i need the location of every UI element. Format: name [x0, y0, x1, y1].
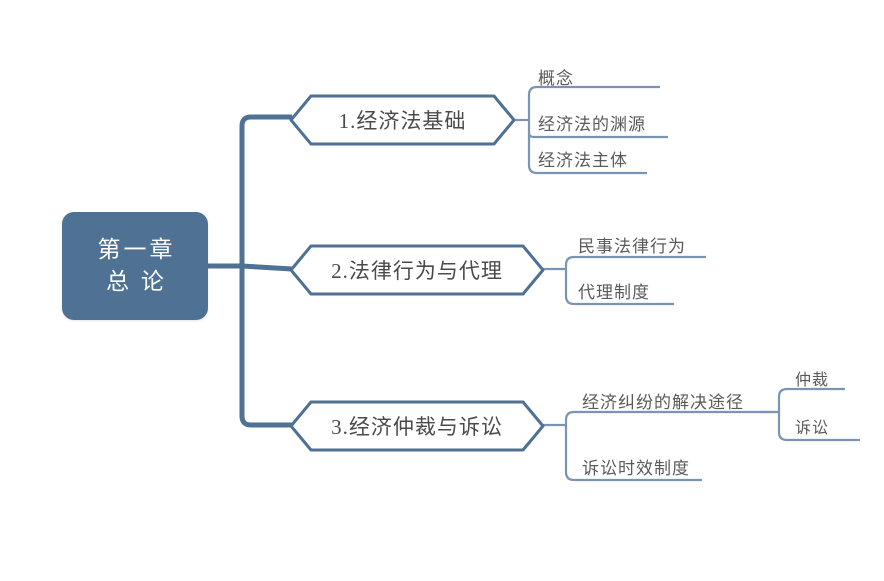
- leaf-node-limitation-of-action[interactable]: 诉讼时效制度: [582, 454, 690, 479]
- leaf-node-economic-law-subject[interactable]: 经济法主体: [538, 146, 628, 171]
- root-node[interactable]: 第一章 总 论: [62, 212, 208, 320]
- leaf-node-concept[interactable]: 概念: [538, 64, 574, 89]
- leaf-node-litigation[interactable]: 诉讼: [795, 414, 829, 438]
- branch-node-3[interactable]: 3.经济仲裁与诉讼: [290, 400, 544, 452]
- branch-node-2[interactable]: 2.法律行为与代理: [290, 244, 544, 296]
- trunk-connectors: [208, 117, 292, 425]
- branch-node-2-label: 2.法律行为与代理: [331, 255, 503, 285]
- leaf-node-arbitration[interactable]: 仲裁: [795, 366, 829, 390]
- branch-node-3-label: 3.经济仲裁与诉讼: [331, 411, 503, 441]
- leaf-node-civil-juristic-act[interactable]: 民事法律行为: [578, 232, 686, 257]
- branch-node-1[interactable]: 1.经济法基础: [290, 94, 515, 146]
- root-title-line-1: 第一章: [95, 234, 176, 266]
- leaf-node-agency-system[interactable]: 代理制度: [578, 278, 650, 303]
- mindmap-canvas: 第一章 总 论 1.经济法基础 2.法律行为与代理 3.经济仲裁与诉讼 概念 经…: [0, 0, 884, 581]
- branch-node-1-label: 1.经济法基础: [339, 105, 467, 135]
- root-title-line-2: 总 论: [103, 266, 167, 298]
- leaf-node-economic-law-sources[interactable]: 经济法的渊源: [538, 110, 646, 135]
- leaf-node-dispute-resolution-channels[interactable]: 经济纠纷的解决途径: [582, 388, 744, 413]
